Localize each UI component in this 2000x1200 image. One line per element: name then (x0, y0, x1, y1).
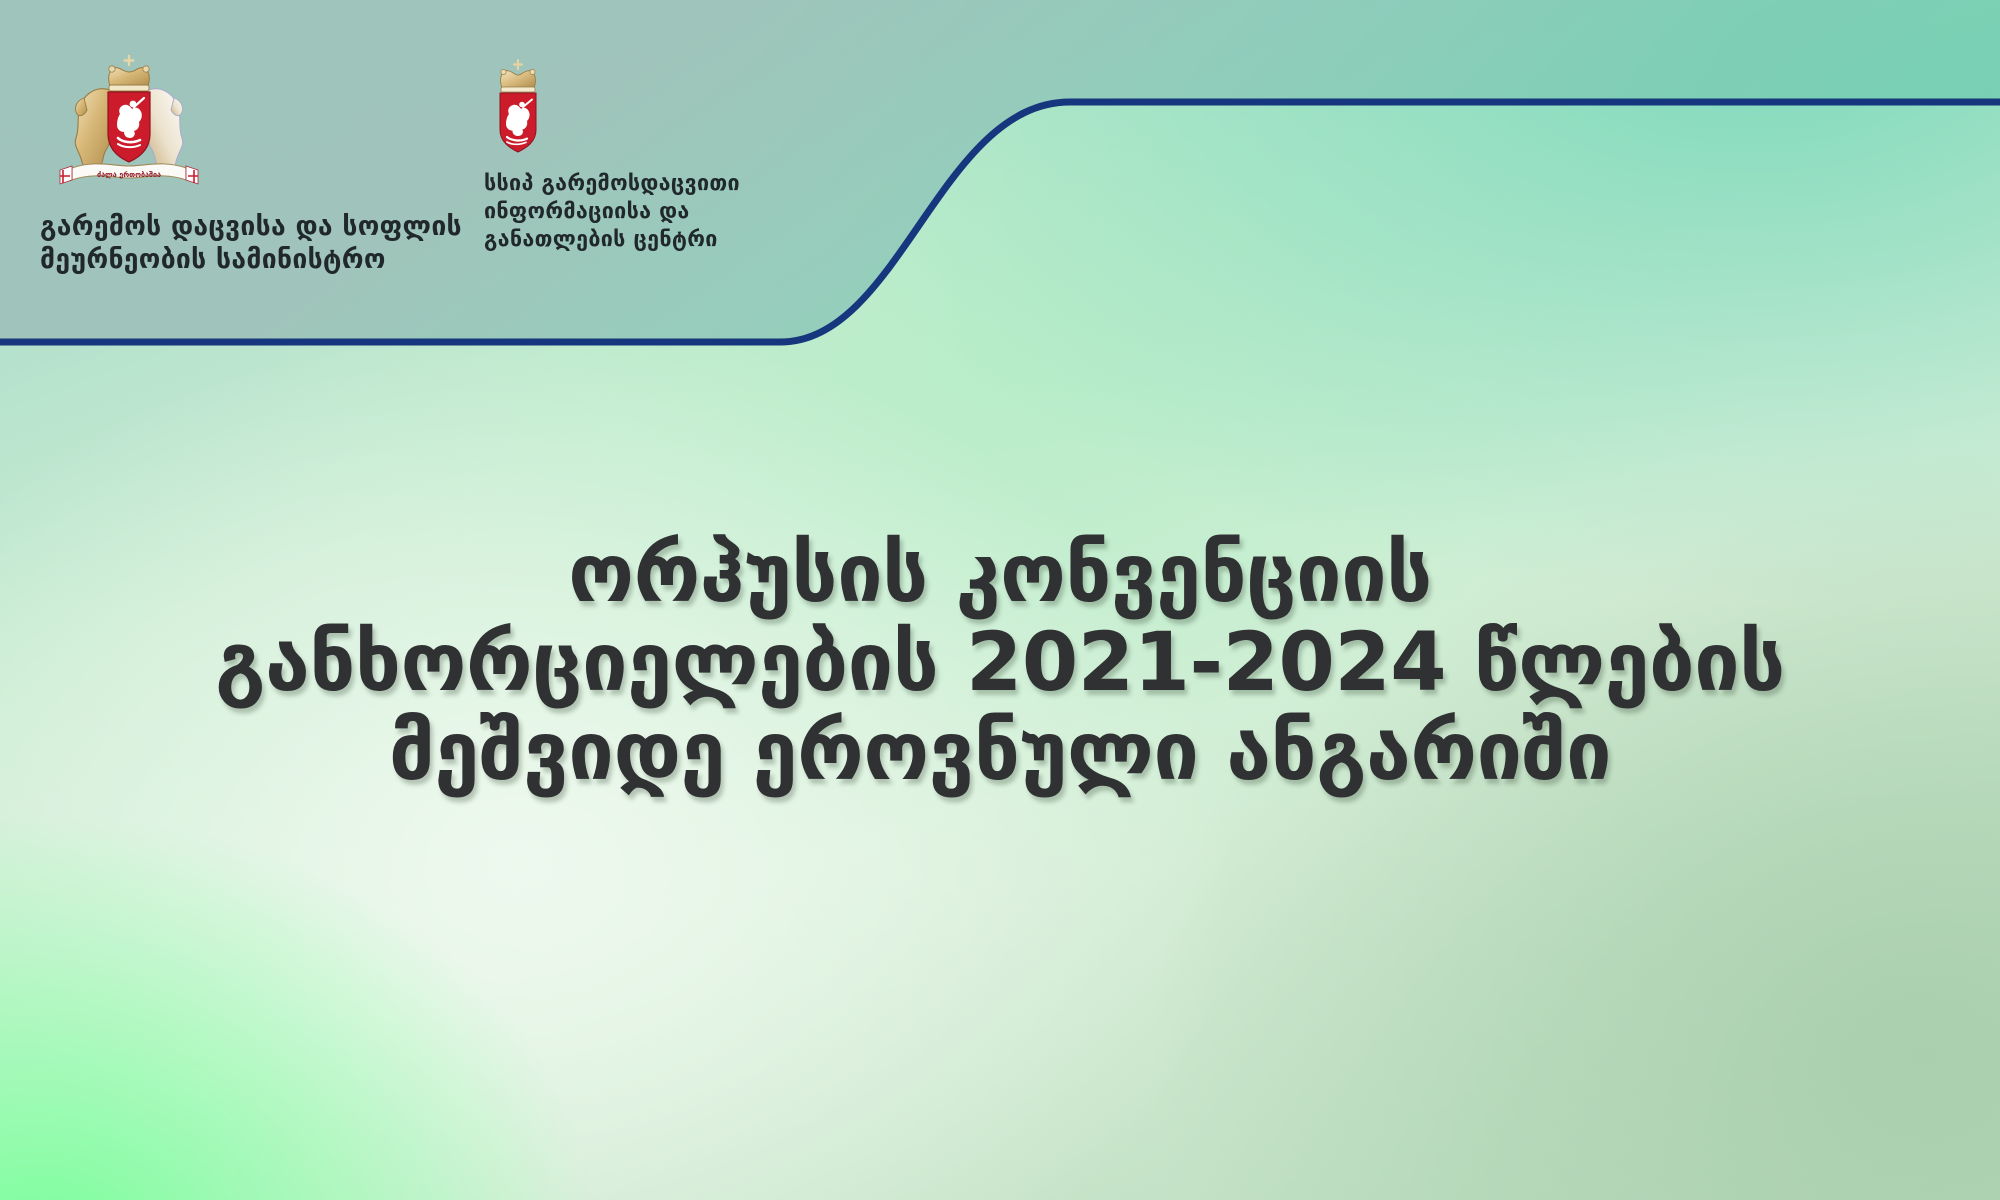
logo-ministry: ძალა ერთობაშია გარემოს დაცვისა და სოფლის… (40, 52, 460, 277)
logo-ministry-caption: გარემოს დაცვისა და სოფლის მეურნეობის სამ… (40, 210, 460, 277)
page-title-line-1: ორჰუსის კონვენციის (0, 530, 2000, 619)
logo-ministry-caption-line-1: გარემოს დაცვისა და სოფლის (40, 210, 460, 243)
page-title-line-2: განხორციელების 2021-2024 წლების (0, 619, 2000, 708)
logo-center-caption-line-1: სსიპ გარემოსდაცვითი (484, 170, 814, 198)
svg-text:ძალა ერთობაშია: ძალა ერთობაშია (97, 170, 161, 179)
page-title-line-3: მეშვიდე ეროვნული ანგარიში (0, 708, 2000, 797)
cover-page: ძალა ერთობაშია გარემოს დაცვისა და სოფლის… (0, 0, 2000, 1200)
page-title: ორჰუსის კონვენციის განხორციელების 2021-2… (0, 530, 2000, 797)
logo-center-caption: სსიპ გარემოსდაცვითი ინფორმაციისა და განა… (484, 170, 814, 254)
georgia-lesser-coat-of-arms-icon (488, 58, 548, 154)
georgia-greater-coat-of-arms-icon: ძალა ერთობაშია (54, 52, 204, 192)
logo-center: სსიპ გარემოსდაცვითი ინფორმაციისა და განა… (484, 58, 814, 254)
logo-ministry-caption-line-2: მეურნეობის სამინისტრო (40, 243, 460, 276)
logo-center-caption-line-2: ინფორმაციისა და (484, 198, 814, 226)
logo-center-caption-line-3: განათლების ცენტრი (484, 226, 814, 254)
